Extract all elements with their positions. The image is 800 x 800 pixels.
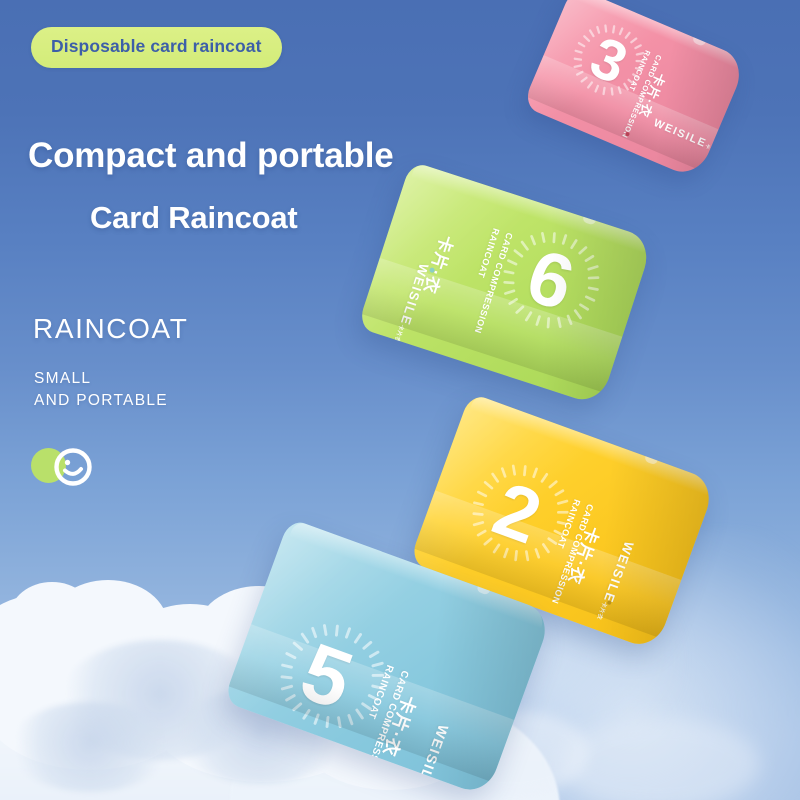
headline-line-1: Compact and portable [28,136,393,176]
cloud-puff [0,630,200,770]
pouch-body: 6 RAINCOAT CARD COMPRESSION 卡片·衣 WEISILE… [357,161,654,406]
smiley-face-icon [52,446,94,488]
pouch-brand: WEISILE卡片衣 [652,117,723,156]
cloud-puff [0,594,120,704]
pouch-brand-tm: 卡片衣 [407,788,420,797]
product-banner: Disposable card raincoat Compact and por… [0,0,800,800]
pouch-brand-name: WEISILE [413,723,452,793]
pouch-face: 6 RAINCOAT CARD COMPRESSION 卡片·衣 WEISILE… [357,161,654,406]
cloud-puff [48,580,168,672]
pouch-brand-tm: 卡片衣 [704,145,721,156]
pouch-brand-tm: 卡片衣 [393,324,404,344]
product-pouch-green[interactable]: 6 RAINCOAT CARD COMPRESSION 卡片·衣 WEISILE… [357,161,654,406]
product-pouch-pink[interactable]: 3 RAINCOAT CARD COMPRESSION 卡片·衣 WEISILE… [522,0,748,180]
pouch-brand: WEISILE卡片衣 [406,723,451,797]
pouch-brand-name: WEISILE [652,117,709,150]
headline-line-2: Card Raincoat [90,200,298,236]
badge-disposable-card-raincoat: Disposable card raincoat [31,27,282,68]
subhead-line-1: SMALL [34,370,91,388]
pouch-body: 3 RAINCOAT CARD COMPRESSION 卡片·衣 WEISILE… [522,0,748,180]
pouch-brand: WEISILE卡片衣 [392,262,432,346]
cloud-puff [10,582,94,650]
pouch-brand-tm: 卡片衣 [595,601,607,621]
pouch-brand: WEISILE卡片衣 [594,539,637,622]
pouch-brand-name: WEISILE [601,539,637,605]
pouch-face: 3 RAINCOAT CARD COMPRESSION 卡片·衣 WEISILE… [522,0,748,180]
badge-label: Disposable card raincoat [51,36,262,56]
brand-logo [31,446,97,486]
cloud-shade [10,702,170,792]
subhead-title: RAINCOAT [33,313,188,345]
cloud-puff [560,718,760,800]
pouch-brand-name: WEISILE [397,262,431,328]
subhead-line-2: AND PORTABLE [34,392,168,410]
